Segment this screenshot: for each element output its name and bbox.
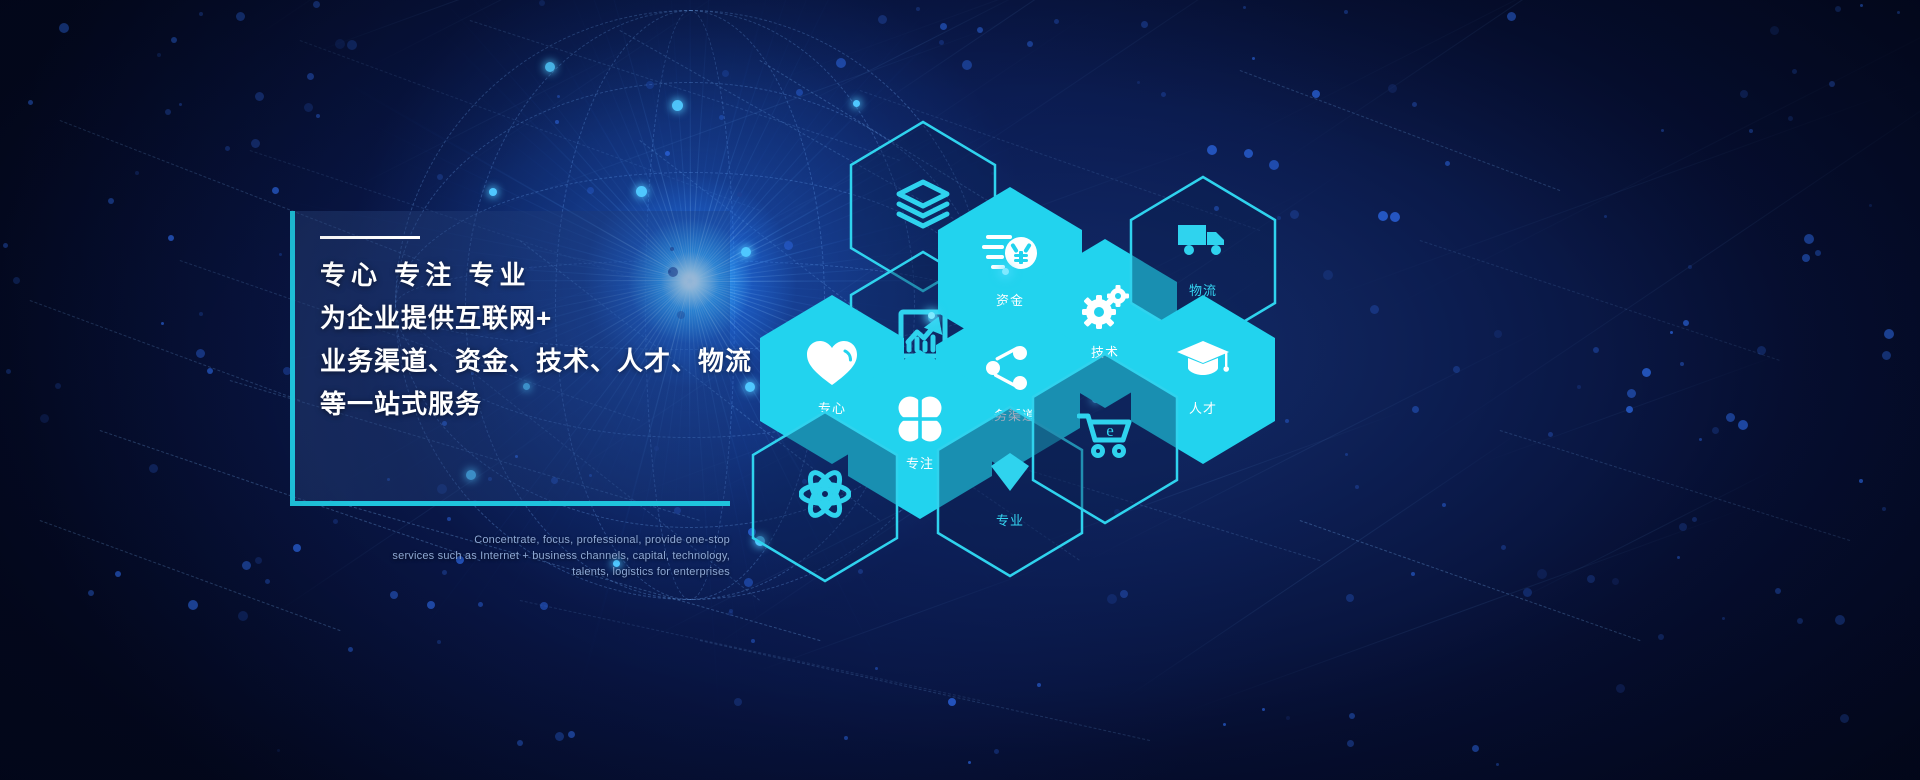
hero-banner: 专心 专注 专业 为企业提供互联网+ 业务渠道、资金、技术、人才、物流 等一站式… [0,0,1920,780]
vignette-overlay [0,0,1920,780]
